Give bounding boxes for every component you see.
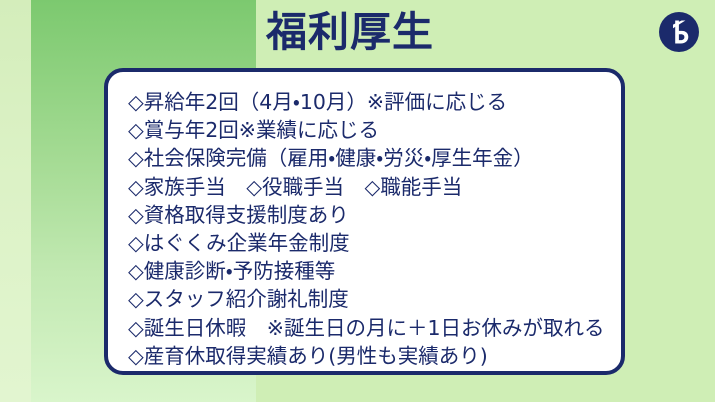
background-strip-left [0,0,31,402]
list-item: ◇家族手当 ◇役職手当 ◇職能手当 [128,173,613,201]
brand-b-circle-icon [658,11,700,53]
slide-root: 福利厚生 ◇昇給年2回（4月・10月）※評価に応じる ◇賞与年2回※業績に応じる… [0,0,715,402]
list-item: ◇産育休取得実績あり(男性も実績あり) [128,342,613,370]
list-item: ◇賞与年2回※業績に応じる [128,116,613,144]
list-item: ◇スタッフ紹介謝礼制度 [128,285,613,313]
list-item: ◇資格取得支援制度あり [128,201,613,229]
list-item: ◇昇給年2回（4月・10月）※評価に応じる [128,88,613,116]
list-item: ◇誕生日休暇 ※誕生日の月に＋1日お休みが取れる [128,314,613,342]
benefits-card: ◇昇給年2回（4月・10月）※評価に応じる ◇賞与年2回※業績に応じる ◇社会保… [104,68,625,375]
list-item: ◇健康診断・予防接種等 [128,257,613,285]
benefits-list: ◇昇給年2回（4月・10月）※評価に応じる ◇賞与年2回※業績に応じる ◇社会保… [128,88,613,370]
page-title: 福利厚生 [266,9,434,55]
list-item: ◇はぐくみ企業年金制度 [128,229,613,257]
list-item: ◇社会保険完備（雇用・健康・労災・厚生年金） [128,144,613,172]
